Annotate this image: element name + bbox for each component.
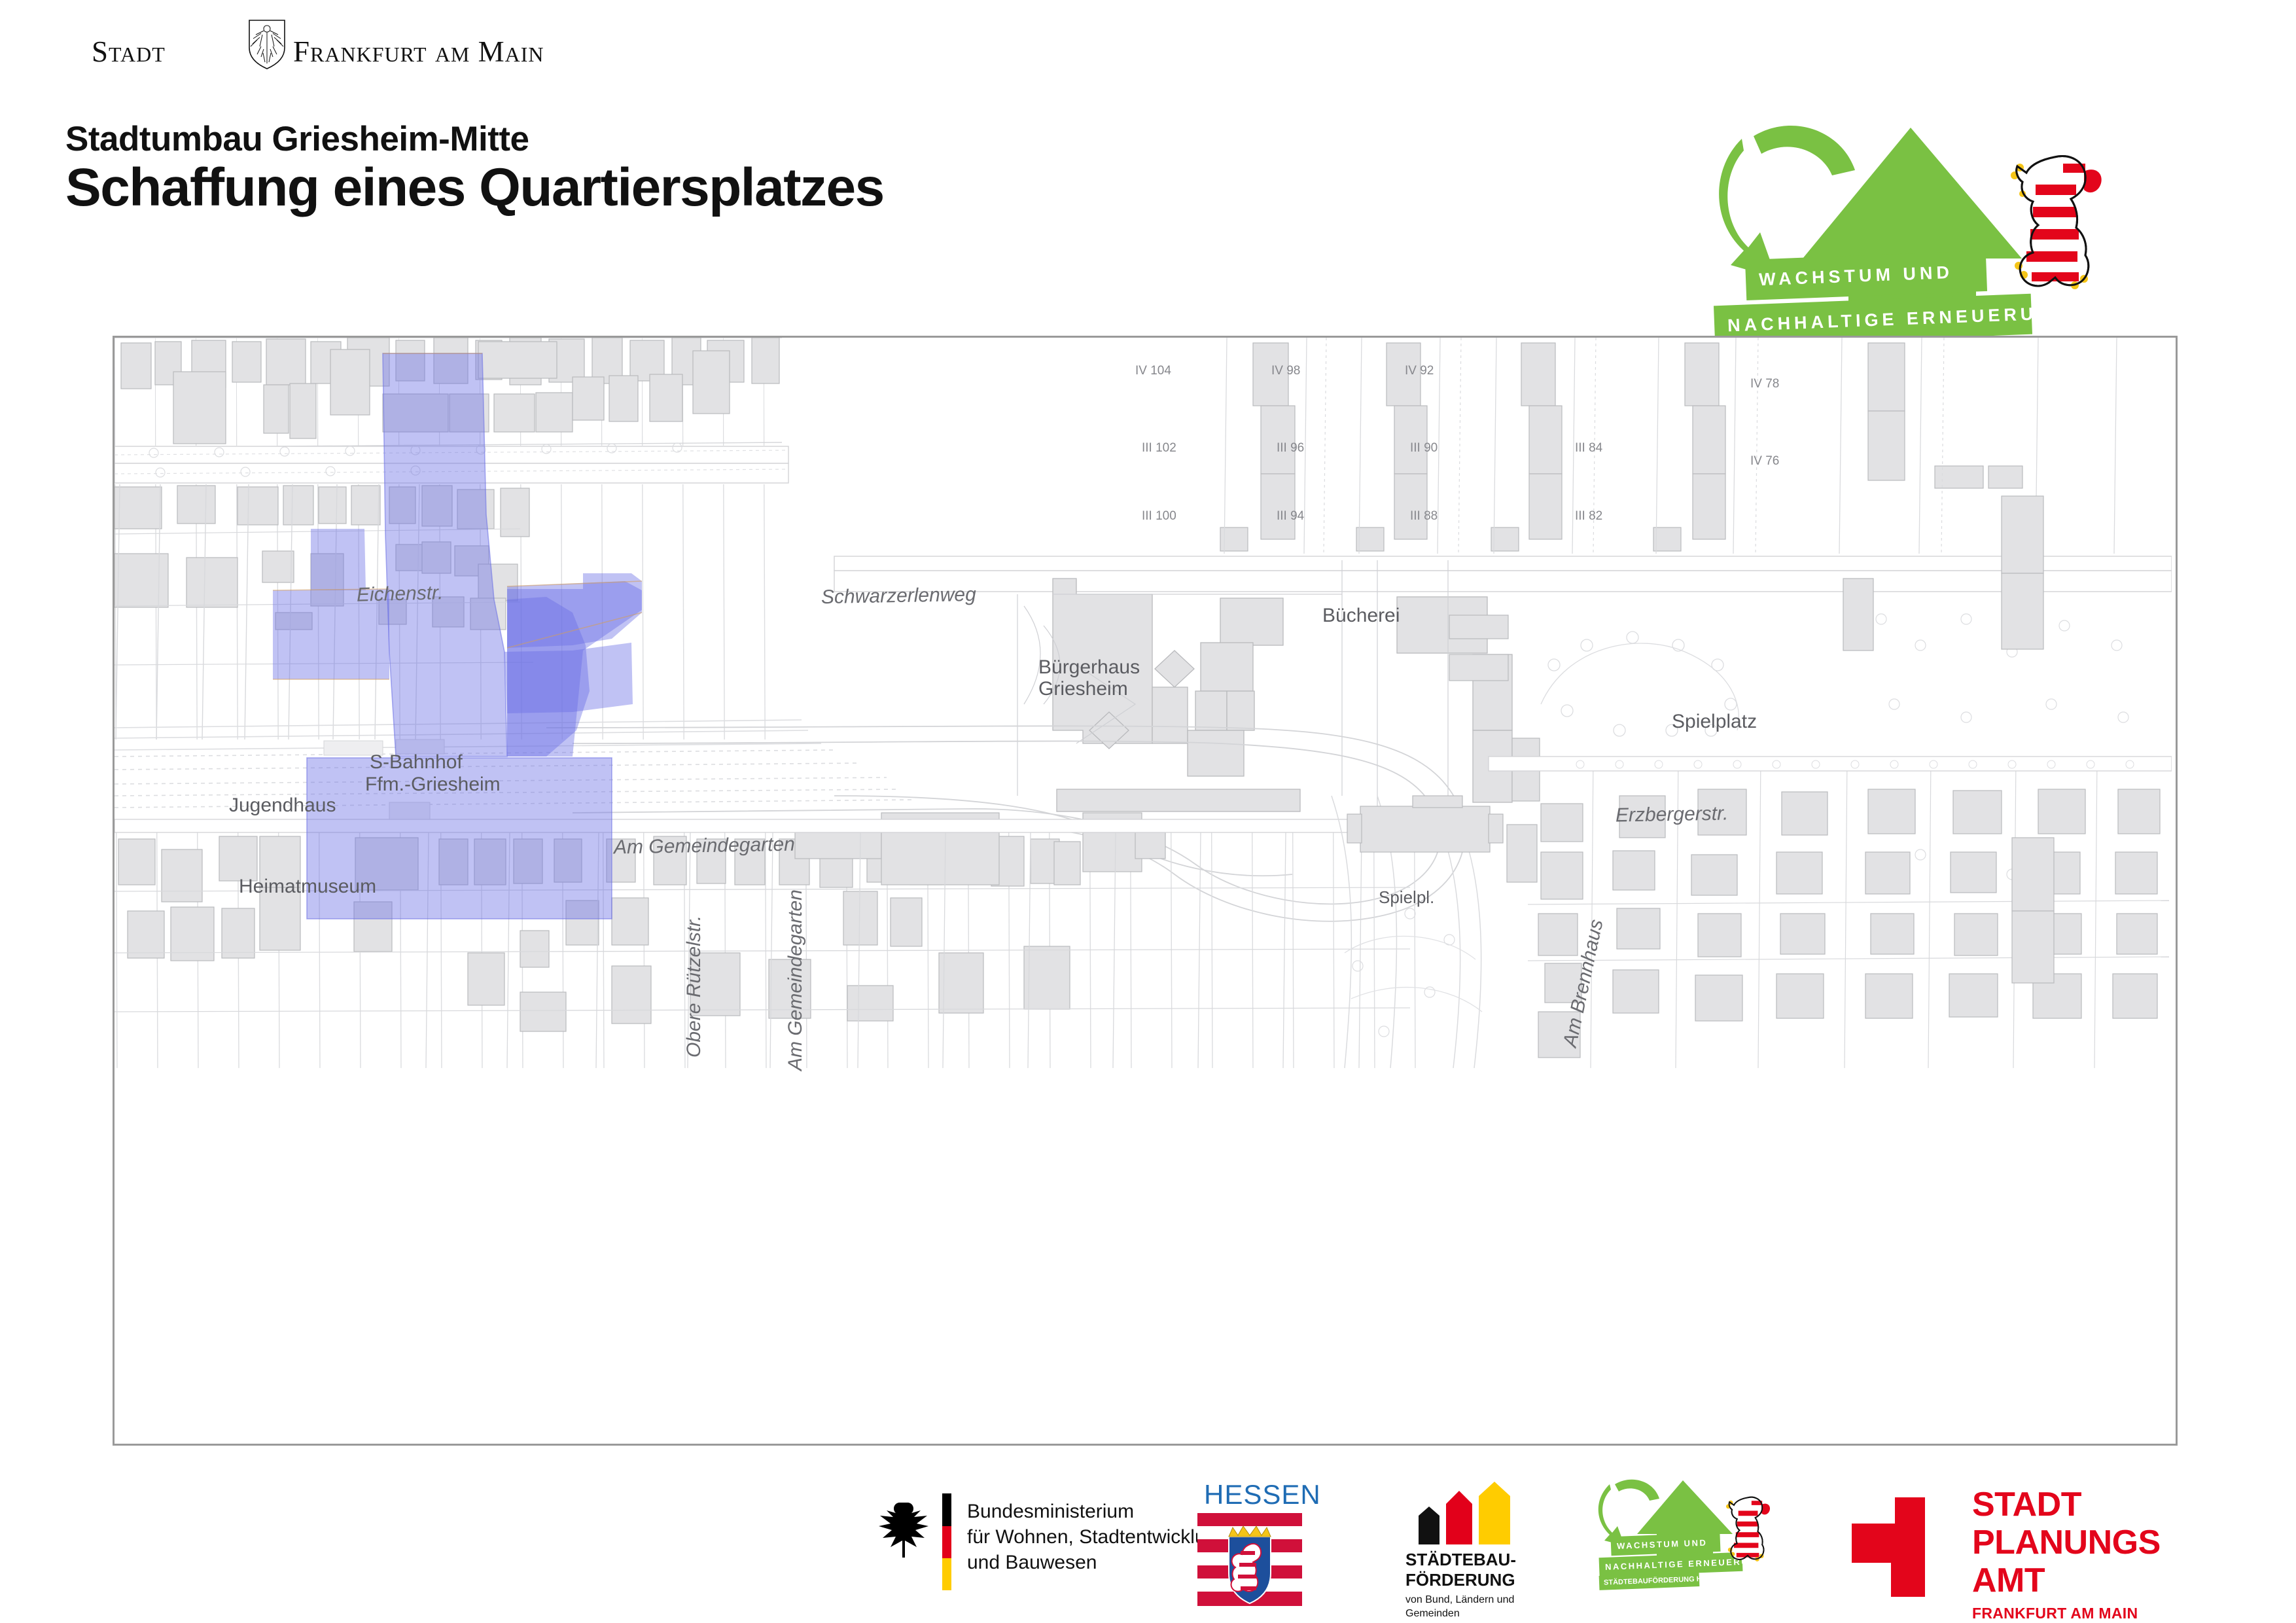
street-label-am-gemeindegarten: Am Gemeindegarten: [614, 834, 795, 859]
hessen-wordmark: HESSEN: [1204, 1479, 1321, 1510]
german-flag-bar-icon: [942, 1493, 951, 1590]
bmwsb-line1: Bundesministerium: [967, 1499, 1227, 1524]
stadt-frankfurt-logo: Stadt Frankfurt am Main: [92, 29, 510, 72]
street-label-am-gemeindegarten-2: Am Gemeindegarten: [785, 889, 807, 1071]
staedtebau-subtext: von Bund, Ländern und Gemeinden: [1405, 1593, 1514, 1620]
staedtebau-text: STÄDTEBAU- FÖRDERUNG: [1405, 1550, 1516, 1590]
place-label-spielplatz: Spielplatz: [1672, 711, 1757, 733]
stadtplanungsamt-logo: STADT PLANUNGS AMT FRANKFURT AM MAIN: [1852, 1486, 2218, 1603]
house-number: III 82: [1575, 509, 1602, 524]
place-label-s-bahnhof: S-Bahnhof: [370, 751, 463, 774]
spa-line1: STADT: [1972, 1486, 2161, 1524]
staedtebaufoerderung-logo: STÄDTEBAU- FÖRDERUNG von Bund, Ländern u…: [1394, 1482, 1564, 1613]
place-label-buergerhaus: Bürgerhaus: [1038, 656, 1140, 679]
frankfurt-eagle-crest-icon: [247, 18, 287, 70]
cadastral-map[interactable]: Eichenstr. Schwarzerlenweg Erzbergerstr.…: [113, 336, 2178, 1446]
place-label-griesheim: Griesheim: [1038, 678, 1128, 700]
spa-text: STADT PLANUNGS AMT: [1972, 1486, 2161, 1599]
wne-small-line3: STÄDTEBAUFÖRDERUNG HESSEN: [1599, 1572, 1700, 1590]
bundesministerium-logo: Bundesministerium für Wohnen, Stadtentwi…: [870, 1486, 1237, 1597]
place-label-spielpl: Spielpl.: [1379, 887, 1434, 908]
stadtplanungsamt-mark-icon: [1852, 1492, 1950, 1597]
house-number: IV 76: [1750, 454, 1779, 469]
house-number: IV 78: [1750, 377, 1779, 391]
bundesadler-icon: [870, 1497, 929, 1569]
spa-line2: PLANUNGS: [1972, 1524, 2161, 1561]
funding-logo-bar: Bundesministerium für Wohnen, Stadtentwi…: [0, 1472, 2296, 1623]
house-number: III 88: [1410, 509, 1438, 524]
bmwsb-line2: für Wohnen, Stadtentwicklung: [967, 1524, 1227, 1550]
wne-logo-footer: WACHSTUM UND NACHHALTIGE ERNEUERUNG STÄD…: [1597, 1479, 1799, 1610]
city-logo-text-frankfurt: Frankfurt am Main: [293, 35, 712, 69]
staedtebau-sub1: von Bund, Ländern und: [1405, 1593, 1514, 1607]
hessen-lion-icon-small: [1718, 1491, 1773, 1564]
place-label-jugendhaus: Jugendhaus: [229, 794, 336, 817]
street-label-erzbergerstr: Erzbergerstr.: [1616, 802, 1729, 827]
hessen-coat-of-arms-icon: [1197, 1510, 1302, 1610]
bmwsb-text: Bundesministerium für Wohnen, Stadtentwi…: [967, 1499, 1227, 1575]
spa-line3: AMT: [1972, 1561, 2161, 1599]
house-number: III 100: [1142, 509, 1176, 524]
hessen-lion-icon: [1992, 144, 2107, 294]
map-canvas: Eichenstr. Schwarzerlenweg Erzbergerstr.…: [115, 338, 2172, 1440]
place-label-buecherei: Bücherei: [1322, 605, 1400, 627]
staedtebau-line2: FÖRDERUNG: [1405, 1570, 1516, 1590]
place-label-ffm-griesheim: Ffm.-Griesheim: [365, 774, 501, 796]
street-label-obere-ruetzelstr: Obere Rützelstr.: [683, 916, 705, 1058]
street-label-schwarzerlenweg: Schwarzerlenweg: [821, 584, 976, 609]
house-number: III 94: [1277, 509, 1304, 524]
house-number: III 96: [1277, 441, 1304, 455]
staedtebau-houses-icon: [1415, 1482, 1519, 1544]
bmwsb-line3: und Bauwesen: [967, 1550, 1227, 1575]
house-number: III 102: [1142, 441, 1176, 455]
house-number: IV 92: [1405, 364, 1434, 378]
house-number: III 90: [1410, 441, 1438, 455]
house-number: III 84: [1575, 441, 1602, 455]
house-number: IV 104: [1135, 364, 1171, 378]
page-title: Schaffung eines Quartiersplatzes: [65, 157, 884, 219]
planning-area-overlay: [115, 338, 2172, 1440]
spa-subline: FRANKFURT AM MAIN: [1972, 1605, 2138, 1622]
staedtebau-line1: STÄDTEBAU-: [1405, 1550, 1516, 1570]
house-number: IV 98: [1271, 364, 1300, 378]
project-subtitle: Stadtumbau Griesheim-Mitte: [65, 119, 529, 159]
staedtebau-sub2: Gemeinden: [1405, 1607, 1514, 1620]
place-label-heimatmuseum: Heimatmuseum: [239, 876, 376, 898]
street-label-eichenstr: Eichenstr.: [357, 582, 444, 606]
hessen-logo: HESSEN: [1197, 1479, 1328, 1610]
